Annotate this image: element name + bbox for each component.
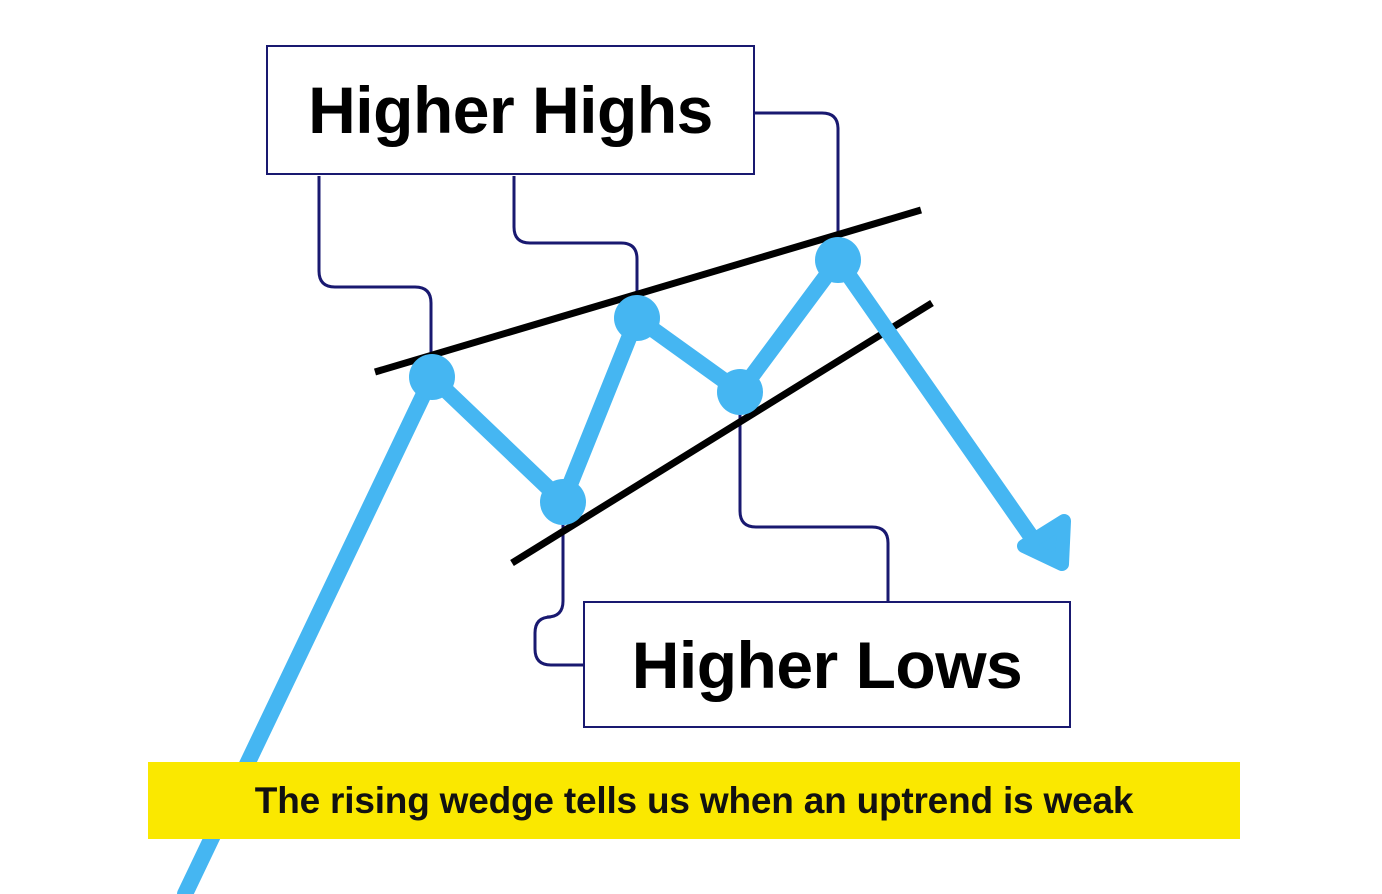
higher-lows-label: Higher Lows	[632, 632, 1023, 698]
caption-banner: The rising wedge tells us when an uptren…	[148, 762, 1240, 839]
higher-lows-annotation-box: Higher Lows	[583, 601, 1071, 728]
data-point-higher-high-1	[409, 354, 455, 400]
data-point-higher-high-3	[815, 237, 861, 283]
lower-trendline	[512, 303, 932, 563]
connector-higher-highs-to-peak-1	[319, 176, 431, 377]
higher-highs-label: Higher Highs	[308, 77, 713, 143]
data-point-higher-low-2	[717, 369, 763, 415]
data-point-higher-high-2	[614, 295, 660, 341]
data-point-higher-low-1	[540, 479, 586, 525]
chart-canvas: Higher Highs Higher Lows The rising wedg…	[0, 0, 1382, 894]
connector-trough-2-to-higher-lows	[740, 392, 888, 601]
higher-highs-annotation-box: Higher Highs	[266, 45, 755, 175]
caption-text: The rising wedge tells us when an uptren…	[255, 780, 1133, 822]
upper-trendline	[375, 210, 921, 372]
